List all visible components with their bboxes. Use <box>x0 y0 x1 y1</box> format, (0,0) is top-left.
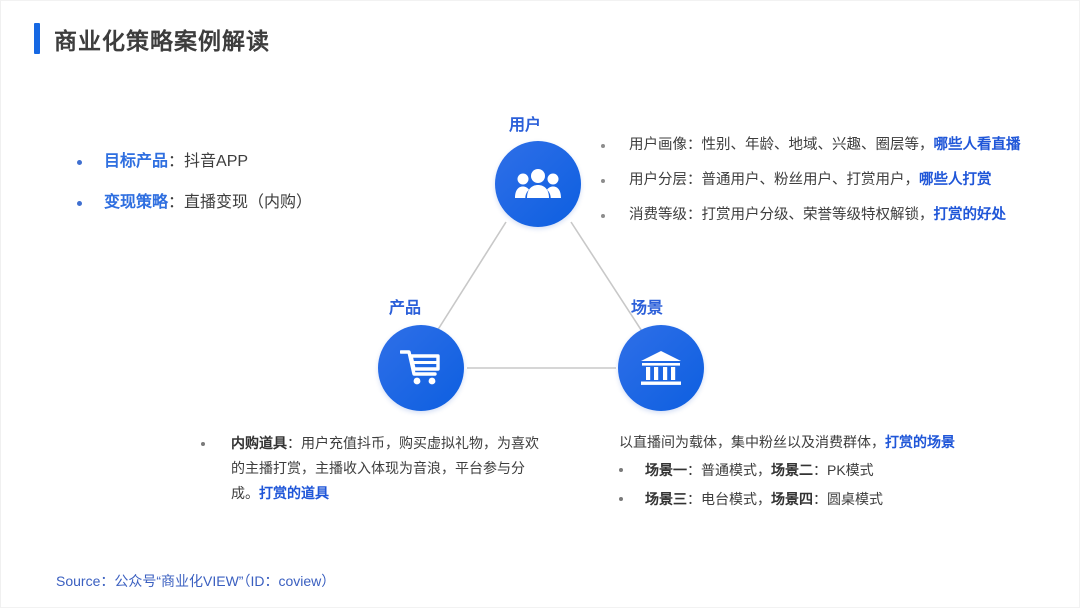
scene-value: ：电台模式， <box>687 491 771 507</box>
bank-building-icon <box>639 349 683 387</box>
source-credit: Source：公众号“商业化VIEW”（ID：coview） <box>56 571 335 591</box>
bottom-right-lead: 以直播间为载体，集中粉丝以及消费群体，打赏的场景 <box>619 431 999 453</box>
shopping-cart-icon <box>400 349 442 387</box>
bottom-left-key: 内购道具 <box>231 435 287 451</box>
title-accent-bar <box>34 23 40 54</box>
bullet-dot-icon <box>601 214 605 218</box>
scene-key: 场景四 <box>771 491 813 507</box>
scene-value: ：普通模式， <box>687 462 771 478</box>
list-item: 用户分层：普通用户、粉丝用户、打赏用户，哪些人打赏 <box>601 170 1021 190</box>
left-bullet-key: 目标产品 <box>104 153 168 170</box>
scene-key: 场景三 <box>645 491 687 507</box>
left-bullet-key: 变现策略 <box>104 194 168 211</box>
bullet-text: 消费等级：打赏用户分级、荣誉等级特权解锁， <box>629 207 934 223</box>
bullet-text: 用户画像：性别、年龄、地域、兴趣、圈层等， <box>629 137 934 153</box>
people-icon <box>515 167 561 201</box>
lead-highlight: 打赏的场景 <box>885 434 955 450</box>
bullet-dot-icon <box>601 179 605 183</box>
bullet-highlight: 哪些人打赏 <box>919 172 992 188</box>
bullet-highlight: 打赏的好处 <box>934 207 1007 223</box>
bullet-dot-icon <box>619 468 623 472</box>
scene-key: 场景二 <box>771 462 813 478</box>
diagram-node-users[interactable] <box>495 141 581 227</box>
node-label-users: 用户 <box>509 111 541 135</box>
slide-canvas: 商业化策略案例解读 目标产品：抖音APP 变现策略：直播变现（内购） 用户 <box>0 0 1080 608</box>
bottom-right-block: 以直播间为载体，集中粉丝以及消费群体，打赏的场景 场景一：普通模式，场景二：PK… <box>619 431 999 517</box>
diagram-node-scene[interactable] <box>618 325 704 411</box>
node-label-scene: 场景 <box>631 294 663 318</box>
bullet-dot-icon <box>77 160 82 165</box>
right-top-bullet-list: 用户画像：性别、年龄、地域、兴趣、圈层等，哪些人看直播 用户分层：普通用户、粉丝… <box>601 135 1021 240</box>
bullet-highlight: 哪些人看直播 <box>934 137 1021 153</box>
list-item: 消费等级：打赏用户分级、荣誉等级特权解锁，打赏的好处 <box>601 205 1021 225</box>
bullet-text: 用户分层：普通用户、粉丝用户、打赏用户， <box>629 172 919 188</box>
scene-key: 场景一 <box>645 462 687 478</box>
left-bullet-value: ：抖音APP <box>168 153 248 170</box>
list-item: 内购道具：用户充值抖币，购买虚拟礼物，为喜欢的主播打赏，主播收入体现为音浪，平台… <box>201 431 541 506</box>
scene-value: ：圆桌模式 <box>813 491 883 507</box>
bullet-dot-icon <box>77 201 82 206</box>
bullet-dot-icon <box>201 442 205 446</box>
list-item: 用户画像：性别、年龄、地域、兴趣、圈层等，哪些人看直播 <box>601 135 1021 155</box>
bullet-dot-icon <box>601 144 605 148</box>
bottom-left-highlight: 打赏的道具 <box>259 485 329 501</box>
bullet-dot-icon <box>619 497 623 501</box>
left-bullet-value: ：直播变现（内购） <box>168 194 312 211</box>
lead-text: 以直播间为载体，集中粉丝以及消费群体， <box>619 434 885 450</box>
slide-header: 商业化策略案例解读 <box>1 1 1080 73</box>
list-item: 场景一：普通模式，场景二：PK模式 <box>619 459 999 481</box>
page-title: 商业化策略案例解读 <box>54 22 270 56</box>
bottom-left-block: 内购道具：用户充值抖币，购买虚拟礼物，为喜欢的主播打赏，主播收入体现为音浪，平台… <box>201 431 541 506</box>
node-label-product: 产品 <box>389 294 421 318</box>
diagram-node-product[interactable] <box>378 325 464 411</box>
scene-value: ：PK模式 <box>813 462 874 478</box>
list-item: 场景三：电台模式，场景四：圆桌模式 <box>619 488 999 510</box>
